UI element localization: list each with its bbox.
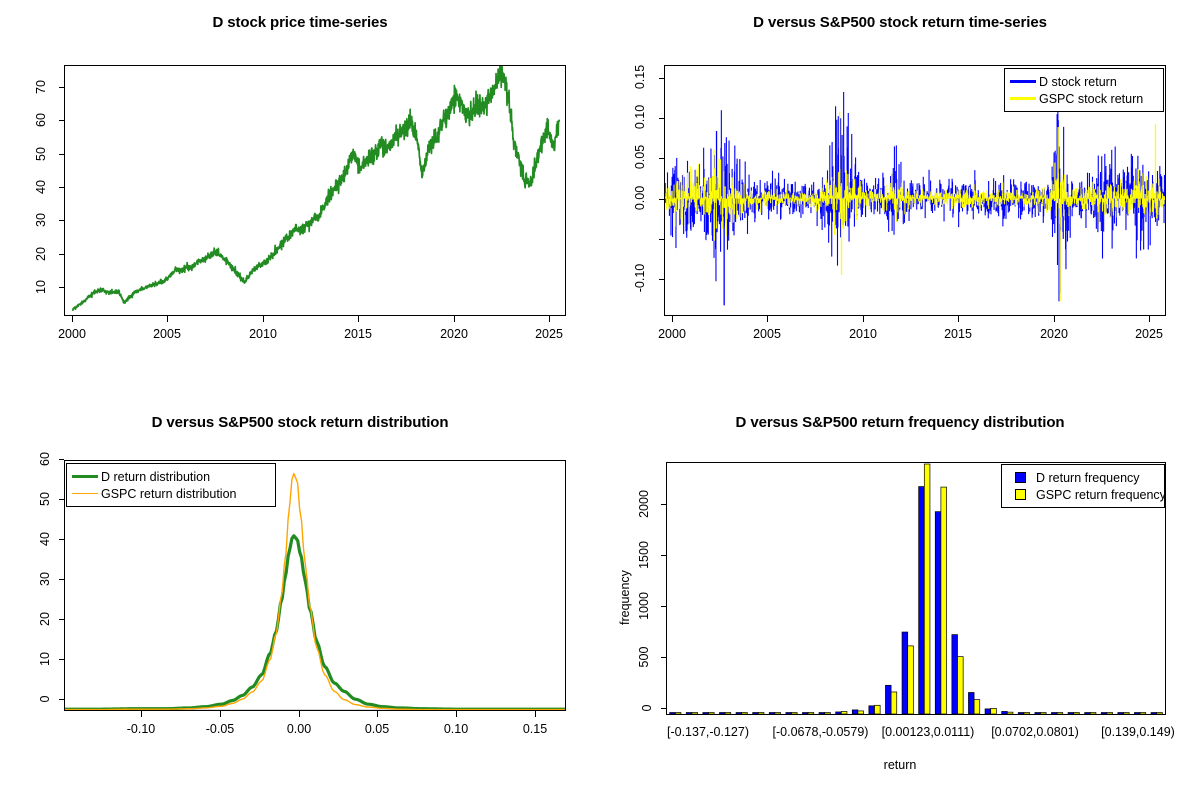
x-tick-label: 0.15 — [510, 722, 560, 736]
y-tick-label: 40 — [34, 177, 48, 197]
panel-return-timeseries: D versus S&P500 stock return time-series… — [600, 0, 1200, 400]
x-tick-label: 2020 — [1034, 327, 1074, 341]
y-tick-label: 1500 — [637, 535, 651, 575]
panel-title: D versus S&P500 return frequency distrib… — [600, 414, 1200, 431]
plot-area — [65, 66, 565, 315]
y-tick-label: 10 — [34, 277, 48, 297]
panel-title: D versus S&P500 stock return distributio… — [0, 414, 600, 431]
x-tick-label: 2025 — [1129, 327, 1169, 341]
x-tick-label: 2015 — [338, 327, 378, 341]
legend-line-icon — [1008, 97, 1038, 100]
y-tick-label: -0.10 — [633, 260, 647, 296]
figure-canvas: D stock price time-series 10 20 30 40 50… — [0, 0, 1200, 800]
y-tick-label: 40 — [38, 526, 52, 552]
y-axis-title: frequency — [618, 570, 632, 625]
y-tick-label: 20 — [34, 244, 48, 264]
legend-label: GSPC stock return — [1038, 92, 1143, 106]
x-tick-label: 2005 — [747, 327, 787, 341]
y-tick-label: 20 — [38, 606, 52, 632]
legend-item: GSPC return distribution — [70, 485, 272, 502]
y-tick-label: 0.10 — [633, 99, 647, 135]
price-line-chart — [65, 66, 565, 315]
x-tick-label: 2015 — [938, 327, 978, 341]
legend-item: GSPC return frequency — [1005, 486, 1161, 503]
x-tick-label: 0.10 — [431, 722, 481, 736]
x-tick-label: 2000 — [652, 327, 692, 341]
bin-label: [0.139,0.149) — [1078, 725, 1198, 739]
y-tick-label: 50 — [38, 486, 52, 512]
legend-line-icon — [70, 493, 100, 495]
y-tick-label: 10 — [38, 646, 52, 672]
legend-label: GSPC return distribution — [100, 487, 236, 501]
y-tick-label: 30 — [38, 566, 52, 592]
panel-title: D stock price time-series — [0, 14, 600, 31]
x-tick-label: 2010 — [843, 327, 883, 341]
x-tick-label: 0.00 — [274, 722, 324, 736]
legend-item: D return frequency — [1005, 469, 1161, 486]
panel-price-timeseries: D stock price time-series 10 20 30 40 50… — [0, 0, 600, 400]
y-tick-label: 60 — [34, 110, 48, 130]
x-tick-label: 2025 — [529, 327, 569, 341]
x-tick-label: 0.05 — [352, 722, 402, 736]
legend-swatch-icon — [1005, 489, 1035, 500]
y-tick-label: 0.05 — [633, 139, 647, 175]
x-tick-label: 2010 — [243, 327, 283, 341]
legend-item: D return distribution — [70, 468, 272, 485]
legend: D return frequency GSPC return frequency — [1001, 464, 1165, 508]
x-axis-title: return — [600, 758, 1200, 772]
legend-label: D stock return — [1038, 75, 1117, 89]
x-tick-label: 2020 — [434, 327, 474, 341]
y-tick-label: 50 — [34, 144, 48, 164]
y-tick-label: 0.00 — [633, 180, 647, 216]
legend-line-icon — [70, 475, 100, 478]
x-tick-label: -0.05 — [195, 722, 245, 736]
legend-label: GSPC return frequency — [1035, 488, 1166, 502]
x-tick-label: 2000 — [52, 327, 92, 341]
panel-title: D versus S&P500 stock return time-series — [600, 14, 1200, 31]
legend: D return distribution GSPC return distri… — [66, 463, 276, 507]
x-tick-label: -0.10 — [116, 722, 166, 736]
y-tick-label: 500 — [637, 639, 651, 675]
legend: D stock return GSPC stock return — [1004, 68, 1164, 112]
y-tick-label: 0.15 — [633, 59, 647, 95]
x-tick-label: 2005 — [147, 327, 187, 341]
y-tick-label: 1000 — [637, 586, 651, 626]
y-tick-label: 0 — [640, 698, 654, 718]
y-tick-label: 0 — [38, 689, 52, 709]
legend-item: D stock return — [1008, 73, 1160, 90]
legend-swatch-icon — [1005, 472, 1035, 483]
panel-return-frequency: D versus S&P500 return frequency distrib… — [600, 400, 1200, 800]
y-tick-label: 70 — [34, 77, 48, 97]
y-tick-label: 2000 — [637, 484, 651, 524]
legend-label: D return frequency — [1035, 471, 1140, 485]
y-tick-label: 60 — [38, 446, 52, 472]
y-tick-label: 30 — [34, 210, 48, 230]
panel-return-distribution: D versus S&P500 stock return distributio… — [0, 400, 600, 800]
legend-label: D return distribution — [100, 470, 210, 484]
legend-item: GSPC stock return — [1008, 90, 1160, 107]
legend-line-icon — [1008, 80, 1038, 83]
